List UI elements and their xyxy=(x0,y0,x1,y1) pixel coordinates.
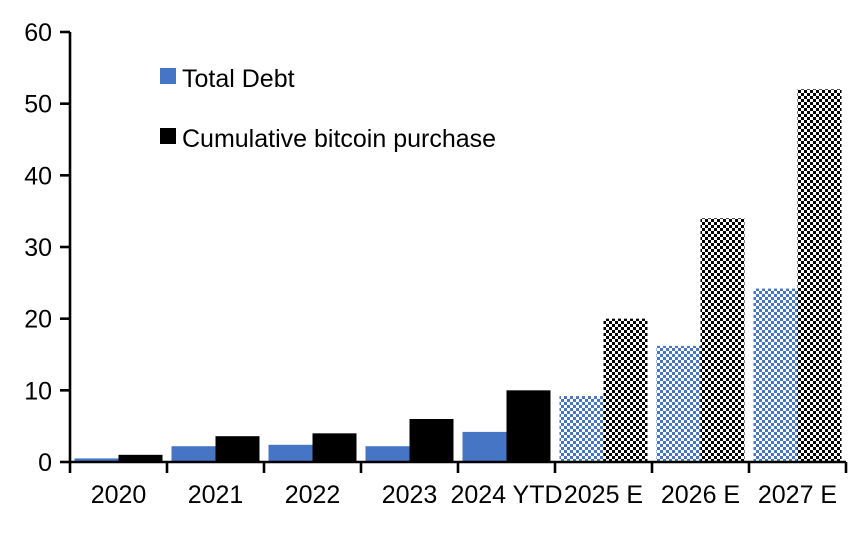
x-tick-label-2025-e: 2025 E xyxy=(564,481,643,509)
x-tick-label-2027-e: 2027 E xyxy=(758,481,837,509)
bar-cumulative-bitcoin-purchase-2022 xyxy=(313,433,357,462)
y-axis-ticks xyxy=(60,32,70,462)
bar-cumulative-bitcoin-purchase-2021 xyxy=(216,436,260,462)
x-axis-ticks xyxy=(70,462,846,473)
x-axis-tick-labels: 20202021202220232024 YTD2025 E2026 E2027… xyxy=(91,481,837,509)
bar-total-debt-2025-e xyxy=(560,396,604,462)
y-tick-label-60: 60 xyxy=(24,19,52,47)
bar-total-debt-2024-ytd xyxy=(463,432,507,462)
bar-total-debt-2026-e xyxy=(657,346,701,462)
x-tick-label-2024-ytd: 2024 YTD xyxy=(450,481,562,509)
x-tick-label-2022: 2022 xyxy=(285,481,341,509)
y-tick-label-0: 0 xyxy=(38,449,52,477)
legend-label-total-debt: Total Debt xyxy=(182,65,295,93)
bar-cumulative-bitcoin-purchase-2025-e xyxy=(604,319,648,462)
bar-chart: 0102030405060 20202021202220232024 YTD20… xyxy=(0,0,852,544)
legend-square-marker-0 xyxy=(160,68,176,84)
bar-total-debt-2027-e xyxy=(754,289,798,462)
bar-cumulative-bitcoin-purchase-2024-ytd xyxy=(507,390,551,462)
bar-cumulative-bitcoin-purchase-2027-e xyxy=(798,89,842,462)
y-tick-label-50: 50 xyxy=(24,91,52,119)
bar-total-debt-2022 xyxy=(269,445,313,462)
chart-canvas: 0102030405060 20202021202220232024 YTD20… xyxy=(0,0,852,544)
y-tick-label-10: 10 xyxy=(24,377,52,405)
bar-total-debt-2023 xyxy=(366,446,410,462)
x-tick-label-2020: 2020 xyxy=(91,481,147,509)
y-tick-label-20: 20 xyxy=(24,306,52,334)
legend-square-marker-1 xyxy=(160,128,176,144)
y-tick-label-30: 30 xyxy=(24,234,52,262)
x-tick-label-2026-e: 2026 E xyxy=(661,481,740,509)
bar-total-debt-2021 xyxy=(172,446,216,462)
legend: Total DebtCumulative bitcoin purchase xyxy=(160,65,496,153)
x-tick-label-2023: 2023 xyxy=(382,481,438,509)
legend-label-cumulative-bitcoin-purchase: Cumulative bitcoin purchase xyxy=(182,125,496,153)
x-tick-label-2021: 2021 xyxy=(188,481,244,509)
bar-cumulative-bitcoin-purchase-2023 xyxy=(410,419,454,462)
bar-cumulative-bitcoin-purchase-2026-e xyxy=(701,218,745,462)
y-tick-label-40: 40 xyxy=(24,162,52,190)
y-axis-tick-labels: 0102030405060 xyxy=(24,19,52,477)
